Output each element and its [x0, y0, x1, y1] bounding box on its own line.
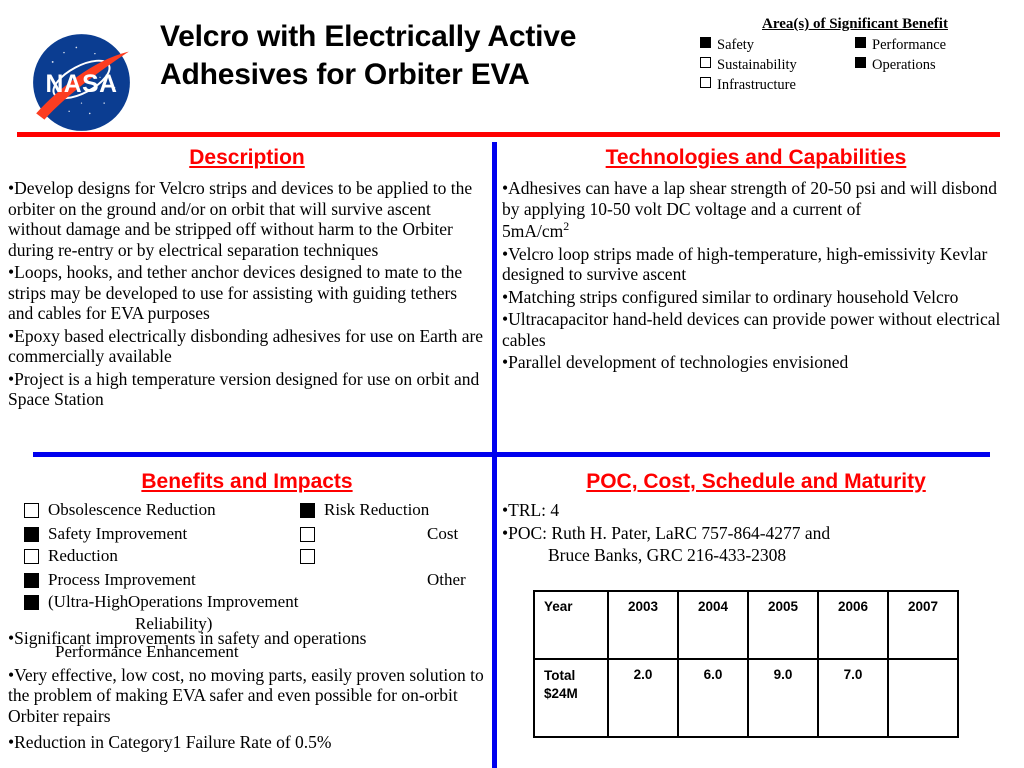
table-header-cell: 2005: [748, 591, 818, 659]
section-description-title: Description: [8, 146, 486, 170]
benefit-check-label: (Ultra-High: [48, 592, 128, 612]
benefit-check-label: Process Improvement: [48, 570, 196, 590]
header-divider-rule: [17, 132, 1000, 137]
technologies-bullet: •Velcro loop strips made of high-tempera…: [502, 244, 1010, 285]
benefit-check-label: Reduction: [48, 546, 118, 566]
benefits-bullet: •Reduction in Category1 Failure Rate of …: [8, 732, 486, 753]
description-bullet: •Project is a high temperature version d…: [8, 369, 486, 410]
page-title-line1: Velcro with Electrically Active: [160, 18, 680, 56]
poc-trl: •TRL: 4: [502, 500, 1010, 521]
checkbox-empty-icon[interactable]: [300, 527, 315, 542]
section-benefits: Benefits and Impacts Obsolescence Reduct…: [8, 470, 486, 650]
checkbox-empty-icon[interactable]: [24, 503, 39, 518]
benefit-area-label: Safety: [717, 35, 754, 55]
nasa-meatball-logo: NASA: [30, 31, 133, 134]
benefit-area-operations[interactable]: Operations: [855, 55, 1010, 75]
benefit-areas-left-column: Safety Sustainability Infrastructure: [700, 35, 855, 95]
technologies-bullet: •Parallel development of technologies en…: [502, 352, 1010, 373]
budget-table: Year 2003 2004 2005 2006 2007 Total $24M…: [533, 590, 959, 738]
benefit-areas-legend: Area(s) of Significant Benefit Safety Su…: [700, 16, 1010, 95]
table-header-cell: 2006: [818, 591, 888, 659]
benefit-area-label: Performance: [872, 35, 946, 55]
svg-text:NASA: NASA: [45, 71, 117, 98]
page-title-line2: Adhesives for Orbiter EVA: [160, 56, 680, 94]
table-cell-value: 7.0: [818, 659, 888, 737]
table-row: Total $24M 2.0 6.0 9.0 7.0: [534, 659, 958, 737]
benefit-area-label: Infrastructure: [717, 75, 796, 95]
checkbox-checked-icon[interactable]: [300, 503, 315, 518]
benefit-area-label: Operations: [872, 55, 936, 75]
benefit-areas-title: Area(s) of Significant Benefit: [700, 16, 1010, 33]
benefit-check-cost-label: Cost: [427, 524, 458, 544]
benefit-check-label: Safety Improvement: [48, 524, 187, 544]
section-technologies: Technologies and Capabilities •Adhesives…: [502, 146, 1010, 375]
benefit-check-process-improvement[interactable]: Process Improvement: [24, 570, 196, 590]
table-cell-value: 9.0: [748, 659, 818, 737]
benefit-check-operations-improvement-label: Operations Improvement: [128, 592, 298, 612]
table-row-label-line1: Total: [544, 667, 598, 685]
benefit-check-ultra-high-reliability[interactable]: (Ultra-High: [24, 592, 128, 612]
horizontal-divider-rule: [33, 452, 990, 457]
benefits-bullet: •Significant improvements in safety and …: [8, 628, 486, 649]
section-poc: POC, Cost, Schedule and Maturity •TRL: 4…: [502, 470, 1010, 568]
description-bullet: •Epoxy based electrically disbonding adh…: [8, 326, 486, 367]
benefit-area-sustainability[interactable]: Sustainability: [700, 55, 855, 75]
benefit-area-label: Sustainability: [717, 55, 797, 75]
table-header-cell: Year: [534, 591, 608, 659]
checkbox-empty-icon[interactable]: [300, 549, 315, 564]
section-technologies-title: Technologies and Capabilities: [502, 146, 1010, 170]
table-header-cell: 2003: [608, 591, 678, 659]
poster-slide: NASA Velcro with Electrically Active Adh…: [0, 0, 1024, 768]
table-cell-value: [888, 659, 958, 737]
poc-contact-line2: Bruce Banks, GRC 216-433-2308: [502, 545, 1010, 566]
table-row-label-line2: $24M: [544, 685, 598, 703]
table-row-header: Year 2003 2004 2005 2006 2007: [534, 591, 958, 659]
technologies-bullet: •Matching strips configured similar to o…: [502, 287, 1010, 308]
checkbox-checked-icon[interactable]: [700, 37, 711, 48]
poc-contact-line1: •POC: Ruth H. Pater, LaRC 757-864-4277 a…: [502, 523, 1010, 544]
benefit-check-label: Risk Reduction: [324, 500, 429, 520]
benefits-bullets: •Significant improvements in safety and …: [8, 628, 486, 755]
checkbox-checked-icon[interactable]: [855, 57, 866, 68]
vertical-divider-rule: [492, 142, 497, 768]
section-poc-title: POC, Cost, Schedule and Maturity: [502, 470, 1010, 494]
section-benefits-title: Benefits and Impacts: [8, 470, 486, 494]
current-density-exponent: 2: [563, 219, 569, 233]
benefit-check-label: Obsolescence Reduction: [48, 500, 216, 520]
table-header-cell: 2004: [678, 591, 748, 659]
checkbox-checked-icon[interactable]: [24, 573, 39, 588]
benefit-check-risk-reduction[interactable]: Risk Reduction: [300, 500, 429, 520]
checkbox-empty-icon[interactable]: [24, 549, 39, 564]
benefit-check-safety-improvement[interactable]: Safety Improvement: [24, 524, 187, 544]
benefit-check-blank[interactable]: [300, 546, 324, 561]
benefit-area-performance[interactable]: Performance: [855, 35, 1010, 55]
benefit-check-obsolescence-reduction[interactable]: Obsolescence Reduction: [24, 500, 216, 520]
table-cell-value: 2.0: [608, 659, 678, 737]
checkbox-checked-icon[interactable]: [24, 595, 39, 610]
benefits-bullet: •Very effective, low cost, no moving par…: [8, 665, 486, 727]
section-description: Description •Develop designs for Velcro …: [8, 146, 486, 412]
checkbox-empty-icon[interactable]: [700, 77, 711, 88]
benefit-check-cost[interactable]: [300, 524, 324, 539]
description-bullet: •Loops, hooks, and tether anchor devices…: [8, 262, 486, 324]
table-row-label: Total $24M: [534, 659, 608, 737]
table-header-cell: 2007: [888, 591, 958, 659]
benefit-areas-right-column: Performance Operations: [855, 35, 1010, 95]
description-bullet: •Develop designs for Velcro strips and d…: [8, 178, 486, 260]
current-density-value: 5mA/cm: [502, 221, 563, 241]
benefit-check-reduction[interactable]: Reduction: [24, 546, 118, 566]
technologies-bullet: •Ultracapacitor hand-held devices can pr…: [502, 309, 1010, 350]
page-title: Velcro with Electrically Active Adhesive…: [160, 18, 680, 94]
checkbox-checked-icon[interactable]: [855, 37, 866, 48]
checkbox-empty-icon[interactable]: [700, 57, 711, 68]
benefit-check-other-label: Other: [427, 570, 466, 590]
benefit-area-safety[interactable]: Safety: [700, 35, 855, 55]
benefit-area-infrastructure[interactable]: Infrastructure: [700, 75, 855, 95]
technologies-current-density: 5mA/cm2: [502, 221, 1010, 242]
technologies-bullet: •Adhesives can have a lap shear strength…: [502, 178, 1010, 219]
checkbox-checked-icon[interactable]: [24, 527, 39, 542]
table-cell-value: 6.0: [678, 659, 748, 737]
